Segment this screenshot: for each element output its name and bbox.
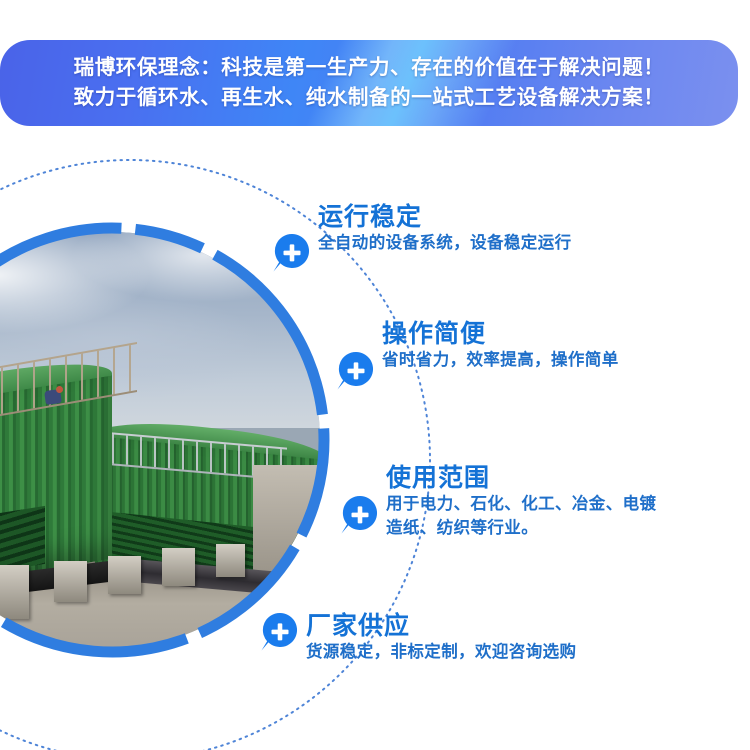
feature-text-block: 使用范围 用于电力、石化、化工、冶金、电镀 造纸、纺织等行业。 [386,464,656,540]
banner-line-1: 瑞博环保理念：科技是第一生产力、存在的价值在于解决问题！ [0,53,738,83]
feature-text-block: 运行稳定 全自动的设备系统，设备稳定运行 [318,203,572,255]
feature-title: 使用范围 [386,464,656,492]
feature-title: 厂家供应 [306,612,576,640]
feature-title: 操作简便 [382,320,619,348]
page-root: 瑞博环保理念：科技是第一生产力、存在的价值在于解决问题！ 致力于循环水、再生水、… [0,0,750,750]
plus-pin-icon[interactable] [334,349,378,393]
plus-pin-icon[interactable] [270,231,314,275]
feature-desc-line: 造纸、纺织等行业。 [386,516,656,540]
feature-text-block: 操作简便 省时省力，效率提高，操作简单 [382,320,619,372]
banner-line-2: 致力于循环水、再生水、纯水制备的一站式工艺设备解决方案！ [0,83,738,113]
banner-text-block: 瑞博环保理念：科技是第一生产力、存在的价值在于解决问题！ 致力于循环水、再生水、… [0,53,738,113]
feature-desc-line: 用于电力、石化、化工、冶金、电镀 [386,492,656,516]
photo-dashed-ring [0,220,332,660]
feature-desc-line: 省时省力，效率提高，操作简单 [382,348,619,372]
feature-desc-line: 全自动的设备系统，设备稳定运行 [318,231,572,255]
plus-pin-icon[interactable] [258,610,302,654]
feature-text-block: 厂家供应 货源稳定，非标定制，欢迎咨询选购 [306,612,576,664]
header-banner: 瑞博环保理念：科技是第一生产力、存在的价值在于解决问题！ 致力于循环水、再生水、… [0,40,738,126]
feature-title: 运行稳定 [318,203,572,231]
feature-desc-line: 货源稳定，非标定制，欢迎咨询选购 [306,640,576,664]
plus-pin-icon[interactable] [338,493,382,537]
product-photo-circle [0,232,320,648]
